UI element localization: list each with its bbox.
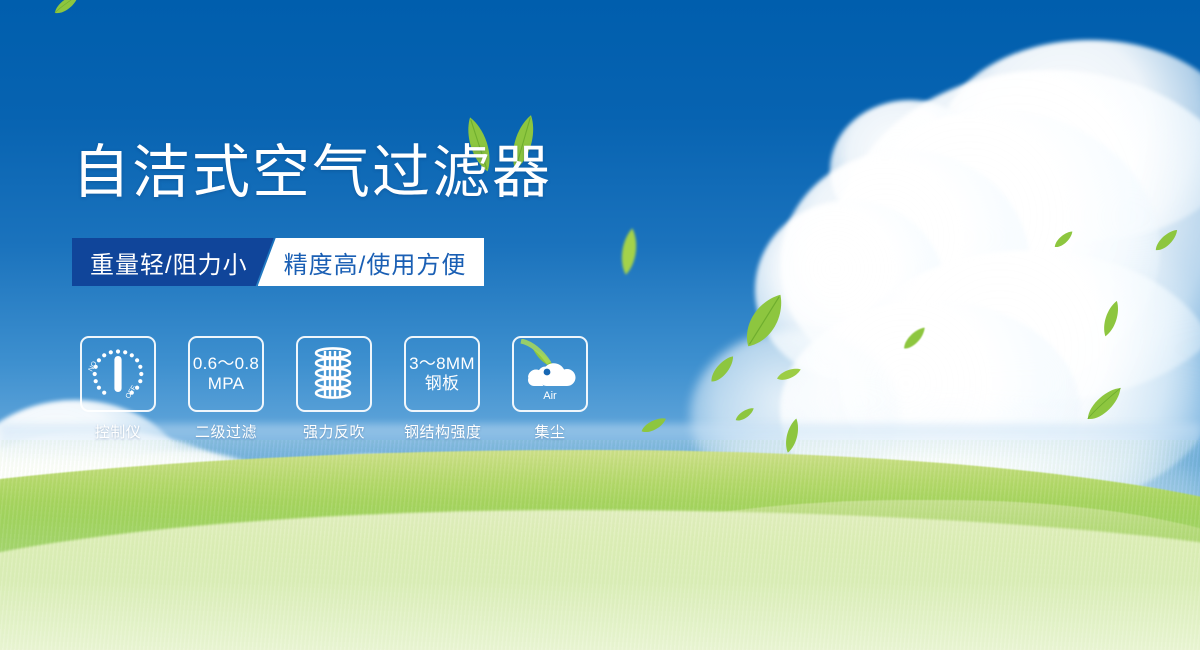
air-cloud-icon: Air <box>512 336 588 412</box>
feature-list: NO OFF 控制仪 0.6～0.8 MPA 二级过滤 <box>80 336 588 442</box>
slogan-right-text: 精度高/使用方便 <box>284 245 467 280</box>
slogan-left-text: 重量轻/阻力小 <box>90 245 248 280</box>
feature-item-blowback[interactable]: 强力反吹 <box>296 336 372 442</box>
slogan-right: 精度高/使用方便 <box>258 238 485 286</box>
feature-box-line: 3～8MM <box>409 354 475 374</box>
grass-field <box>0 440 1200 650</box>
page-title: 自洁式空气过滤器 <box>72 144 552 202</box>
steel-text-icon: 3～8MM 钢板 <box>404 336 480 412</box>
feature-box-line: 0.6～0.8 <box>193 354 259 374</box>
feature-box-line: MPA <box>208 374 244 394</box>
feature-item-control[interactable]: NO OFF 控制仪 <box>80 336 156 442</box>
gauge-icon: NO OFF <box>80 336 156 412</box>
feature-label: 二级过滤 <box>188 421 264 442</box>
feature-item-pressure[interactable]: 0.6～0.8 MPA 二级过滤 <box>188 336 264 442</box>
feature-box-line: 钢板 <box>425 374 460 394</box>
hero-banner: 自洁式空气过滤器 重量轻/阻力小 精度高/使用方便 <box>0 0 1200 650</box>
feature-label: 钢结构强度 <box>404 421 480 442</box>
slogan-left: 重量轻/阻力小 <box>72 238 274 286</box>
pressure-text-icon: 0.6～0.8 MPA <box>188 336 264 412</box>
air-label: Air <box>543 390 557 402</box>
feature-item-dust[interactable]: Air 集尘 <box>512 336 588 442</box>
feature-label: 强力反吹 <box>296 421 372 442</box>
filter-coil-icon <box>296 336 372 412</box>
slogan-banner: 重量轻/阻力小 精度高/使用方便 <box>72 238 462 286</box>
feature-label: 集尘 <box>512 421 588 442</box>
feature-label: 控制仪 <box>80 421 156 442</box>
feature-item-steel[interactable]: 3～8MM 钢板 钢结构强度 <box>404 336 480 442</box>
hill-front <box>0 510 1200 650</box>
